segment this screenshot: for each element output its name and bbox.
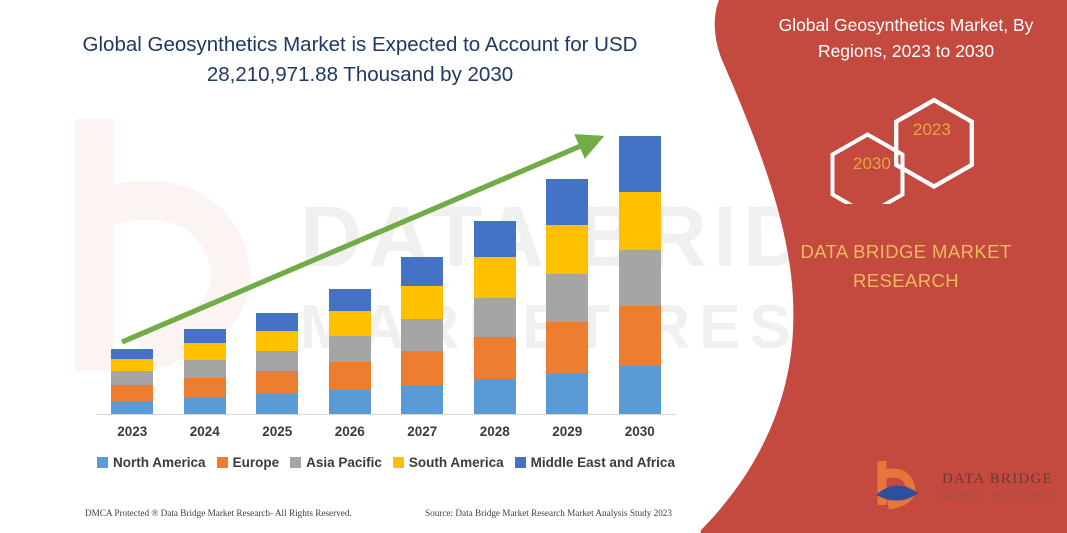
- bar-segment-2029-1: [546, 322, 588, 373]
- bar-2028[interactable]: [474, 221, 516, 414]
- bar-2025[interactable]: [256, 313, 298, 414]
- brand-panel: Global Geosynthetics Market, By Regions,…: [745, 0, 1067, 533]
- bar-segment-2023-4: [111, 349, 153, 359]
- x-axis-label-2023: 2023: [102, 424, 162, 439]
- bar-segment-2028-4: [474, 221, 516, 257]
- legend-label-2: Asia Pacific: [306, 455, 382, 470]
- x-axis-label-2029: 2029: [537, 424, 597, 439]
- bar-segment-2023-2: [111, 371, 153, 384]
- brand-panel-title: Global Geosynthetics Market, By Regions,…: [745, 12, 1067, 65]
- hexagon-badges: 2030 2023: [745, 92, 1067, 204]
- bar-segment-2026-0: [329, 390, 371, 414]
- bar-segment-2029-3: [546, 225, 588, 274]
- bar-segment-2029-2: [546, 274, 588, 322]
- bar-segment-2029-0: [546, 373, 588, 414]
- bar-segment-2027-4: [401, 257, 443, 286]
- bar-segment-2026-2: [329, 336, 371, 362]
- legend-swatch-4: [515, 457, 526, 468]
- legend-swatch-1: [217, 457, 228, 468]
- x-axis-label-2028: 2028: [465, 424, 525, 439]
- bar-2026[interactable]: [329, 289, 371, 414]
- legend-item-asia-pacific[interactable]: Asia Pacific: [290, 455, 382, 470]
- chart-panel: DATA BRIDGE MARKET RESEARCH Global Geosy…: [0, 0, 740, 533]
- brand-name-line2: RESEARCH: [745, 267, 1067, 296]
- x-axis-label-2027: 2027: [392, 424, 452, 439]
- bar-segment-2027-0: [401, 385, 443, 414]
- x-axis-label-2024: 2024: [175, 424, 235, 439]
- bar-segment-2026-4: [329, 289, 371, 312]
- legend-label-1: Europe: [233, 455, 280, 470]
- bar-segment-2024-0: [184, 397, 226, 414]
- bar-2029[interactable]: [546, 179, 588, 414]
- x-axis-labels: 20232024202520262027202820292030: [96, 424, 676, 446]
- bar-2027[interactable]: [401, 257, 443, 414]
- brand-name: DATA BRIDGE MARKET RESEARCH: [745, 238, 1067, 295]
- bar-segment-2024-4: [184, 329, 226, 344]
- data-bridge-logo: DATA BRIDGE MARKET RESEARCH: [870, 455, 1060, 517]
- bar-segment-2023-0: [111, 401, 153, 414]
- legend-item-middle-east-and-africa[interactable]: Middle East and Africa: [515, 455, 675, 470]
- logo-text-line1: DATA BRIDGE: [942, 471, 1053, 487]
- bar-segment-2030-4: [619, 136, 661, 192]
- x-axis-line: [96, 414, 676, 415]
- legend-swatch-0: [97, 457, 108, 468]
- x-axis-label-2030: 2030: [610, 424, 670, 439]
- bar-2024[interactable]: [184, 329, 226, 414]
- bar-segment-2030-1: [619, 306, 661, 366]
- bar-segment-2028-1: [474, 337, 516, 378]
- bar-segment-2025-0: [256, 394, 298, 414]
- chart-plot-area: [96, 120, 676, 415]
- bar-segment-2023-1: [111, 385, 153, 401]
- footer: DMCA Protected ® Data Bridge Market Rese…: [0, 508, 700, 528]
- legend-swatch-3: [393, 457, 404, 468]
- bar-segment-2024-3: [184, 343, 226, 360]
- bar-segment-2023-3: [111, 359, 153, 371]
- bar-segment-2027-3: [401, 286, 443, 318]
- bar-segment-2030-2: [619, 250, 661, 306]
- bar-segment-2028-3: [474, 257, 516, 297]
- bar-segment-2024-1: [184, 378, 226, 398]
- bar-2023[interactable]: [111, 349, 153, 414]
- bar-segment-2025-3: [256, 331, 298, 351]
- infographic-canvas: DATA BRIDGE MARKET RESEARCH Global Geosy…: [0, 0, 1067, 533]
- hex-badge-2023-label: 2023: [913, 120, 951, 140]
- footer-source: Source: Data Bridge Market Research Mark…: [425, 508, 672, 518]
- bar-segment-2030-0: [619, 366, 661, 414]
- brand-name-line1: DATA BRIDGE MARKET: [745, 238, 1067, 267]
- bar-segment-2028-2: [474, 298, 516, 337]
- bar-segment-2025-2: [256, 351, 298, 372]
- bar-segment-2030-3: [619, 192, 661, 250]
- legend-item-south-america[interactable]: South America: [393, 455, 504, 470]
- bar-segment-2027-2: [401, 319, 443, 351]
- legend-swatch-2: [290, 457, 301, 468]
- bar-segment-2026-3: [329, 311, 371, 336]
- bar-segment-2026-1: [329, 362, 371, 390]
- x-axis-label-2026: 2026: [320, 424, 380, 439]
- legend-label-0: North America: [113, 455, 206, 470]
- footer-copyright: DMCA Protected ® Data Bridge Market Rese…: [85, 508, 352, 518]
- bar-2030[interactable]: [619, 136, 661, 414]
- bar-segment-2025-4: [256, 313, 298, 331]
- legend-item-north-america[interactable]: North America: [97, 455, 206, 470]
- chart-title: Global Geosynthetics Market is Expected …: [60, 30, 660, 89]
- chart-legend: North AmericaEuropeAsia PacificSouth Ame…: [96, 455, 676, 470]
- bar-segment-2028-0: [474, 379, 516, 414]
- hexagon-shapes-icon: [745, 92, 1067, 204]
- legend-label-4: Middle East and Africa: [531, 455, 675, 470]
- bar-segment-2024-2: [184, 360, 226, 378]
- x-axis-label-2025: 2025: [247, 424, 307, 439]
- bar-segment-2027-1: [401, 351, 443, 385]
- logo-text-line2: MARKET RESEARCH: [942, 493, 1055, 500]
- legend-item-europe[interactable]: Europe: [217, 455, 280, 470]
- legend-label-3: South America: [409, 455, 504, 470]
- bar-segment-2025-1: [256, 371, 298, 394]
- bar-segment-2029-4: [546, 179, 588, 226]
- hex-badge-2030-label: 2030: [853, 154, 891, 174]
